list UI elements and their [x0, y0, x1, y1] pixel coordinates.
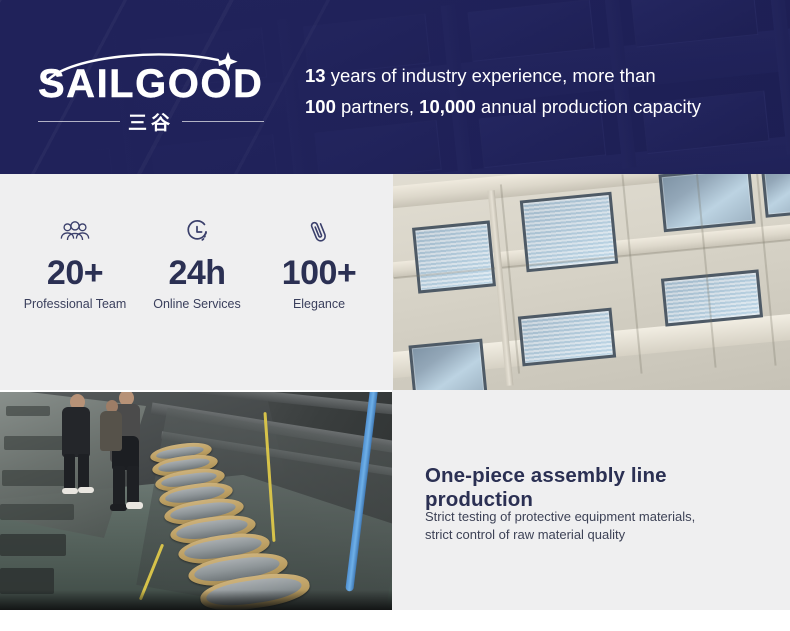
banner-headline-line-1: 13 years of industry experience, more th… [305, 60, 775, 91]
text-panel: One-piece assembly line production Stric… [392, 390, 790, 610]
headline-line1-rest: years of industry experience, more than [326, 65, 656, 86]
stat-capacity: 10,000 [419, 96, 476, 117]
stat-years: 13 [305, 65, 326, 86]
section-title: One-piece assembly line production [425, 464, 775, 512]
stat-value: 20+ [14, 254, 136, 292]
stat-elegance: 100+ Elegance [258, 216, 380, 312]
company-logo: SAILGOOD 三谷 [38, 50, 264, 126]
logo-subtitle: 三谷 [38, 108, 264, 135]
stat-label: Professional Team [14, 296, 136, 312]
stat-label: Elegance [258, 296, 380, 312]
header-banner: SAILGOOD 三谷 13 years of industry experie… [0, 0, 790, 174]
stat-label: Online Services [136, 296, 258, 312]
section-body-line-2: strict control of raw material quality [425, 526, 765, 544]
building-photo [393, 174, 790, 390]
banner-headline: 13 years of industry experience, more th… [305, 60, 775, 122]
stat-professional-team: 20+ Professional Team [14, 216, 136, 312]
stat-value: 24h [136, 254, 258, 292]
logo-rule-left [38, 121, 120, 122]
section-body-line-1: Strict testing of protective equipment m… [425, 508, 765, 526]
headline-line2-rest: annual production capacity [476, 96, 701, 117]
logo-chinese-name: 三谷 [128, 108, 174, 135]
stats-panel: 20+ Professional Team 24h Online Service… [0, 174, 393, 390]
stat-value: 100+ [258, 254, 380, 292]
clock-icon [136, 216, 258, 248]
headline-line2-mid: partners, [336, 96, 419, 117]
logo-rule-right [182, 121, 264, 122]
promo-page: SAILGOOD 三谷 13 years of industry experie… [0, 0, 790, 631]
paperclip-icon [258, 216, 380, 248]
stat-partners: 100 [305, 96, 336, 117]
stats-row: 20+ Professional Team 24h Online Service… [0, 216, 393, 312]
logo-wordmark: SAILGOOD [38, 62, 264, 106]
factory-photo [0, 392, 392, 610]
section-body: Strict testing of protective equipment m… [425, 508, 765, 544]
people-group-icon [14, 216, 136, 248]
banner-headline-line-2: 100 partners, 10,000 annual production c… [305, 91, 775, 122]
stat-online-services: 24h Online Services [136, 216, 258, 312]
